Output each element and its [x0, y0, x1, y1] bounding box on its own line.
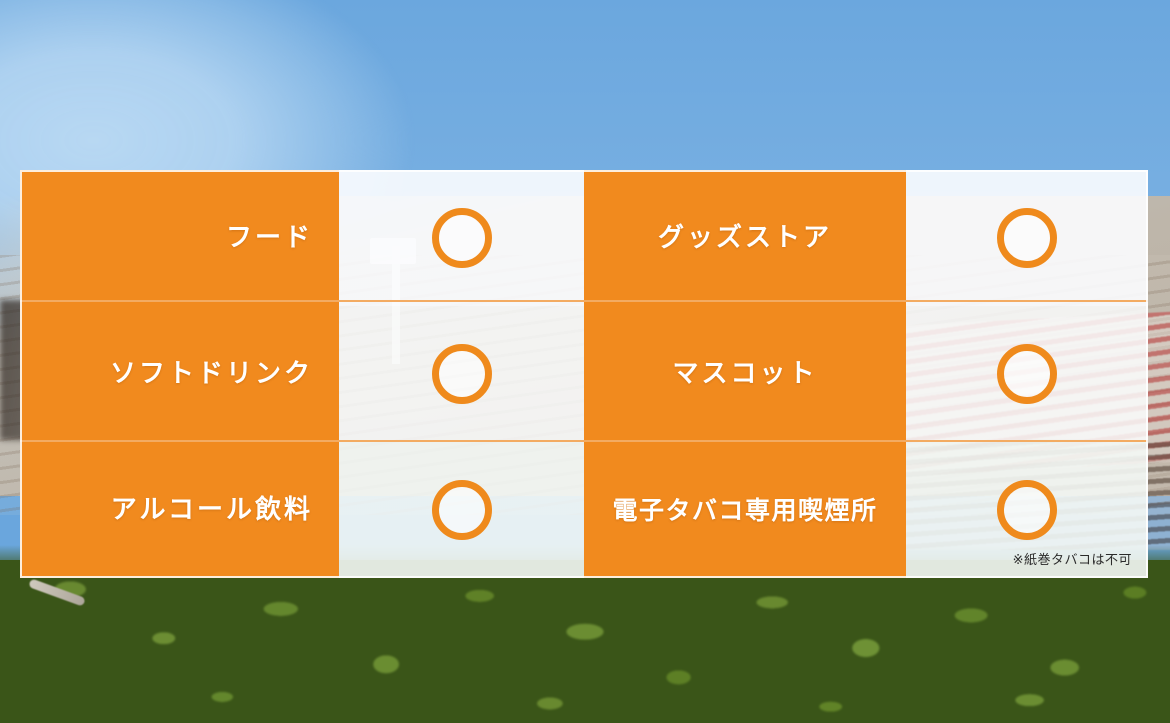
row-label-soft-drink: ソフトドリンク [110, 361, 313, 387]
circle-ok-icon [997, 344, 1057, 404]
table-row-1-right-mark-cell [906, 170, 1148, 306]
circle-ok-icon [432, 208, 492, 268]
table-row-1-left-mark-cell [339, 170, 584, 306]
circle-ok-icon [997, 480, 1057, 540]
table-footnote: ※紙巻タバコは不可 [1013, 549, 1132, 568]
table-row-2-right-mark-cell [906, 306, 1148, 442]
screenshot-stage: フード グッズストア ソフトドリンク マスコット アルコール飲料 [0, 0, 1170, 723]
row-label-food: フード [226, 225, 313, 251]
circle-ok-icon [997, 208, 1057, 268]
row-label-ecig-smoking-area: 電子タバコ専用喫煙所 [612, 498, 877, 523]
availability-table: フード グッズストア ソフトドリンク マスコット アルコール飲料 [20, 170, 1148, 578]
table-row-2-label-cell: ソフトドリンク [20, 306, 339, 442]
table-row-2-left-mark-cell [339, 306, 584, 442]
table-row-3-label-cell: アルコール飲料 [20, 442, 339, 578]
table-row-2-right-label-cell: マスコット [584, 306, 906, 442]
table-row-1-right-label-cell: グッズストア [584, 170, 906, 306]
background-grass-texture [0, 560, 1170, 723]
table-row-1-label-cell: フード [20, 170, 339, 306]
table-row-3-right-label-cell: 電子タバコ専用喫煙所 [584, 442, 906, 578]
circle-ok-icon [432, 344, 492, 404]
row-label-alcohol: アルコール飲料 [111, 497, 313, 523]
circle-ok-icon [432, 480, 492, 540]
row-label-mascot: マスコット [672, 361, 817, 387]
table-row-3-left-mark-cell [339, 442, 584, 578]
row-label-goods-store: グッズストア [658, 225, 832, 251]
